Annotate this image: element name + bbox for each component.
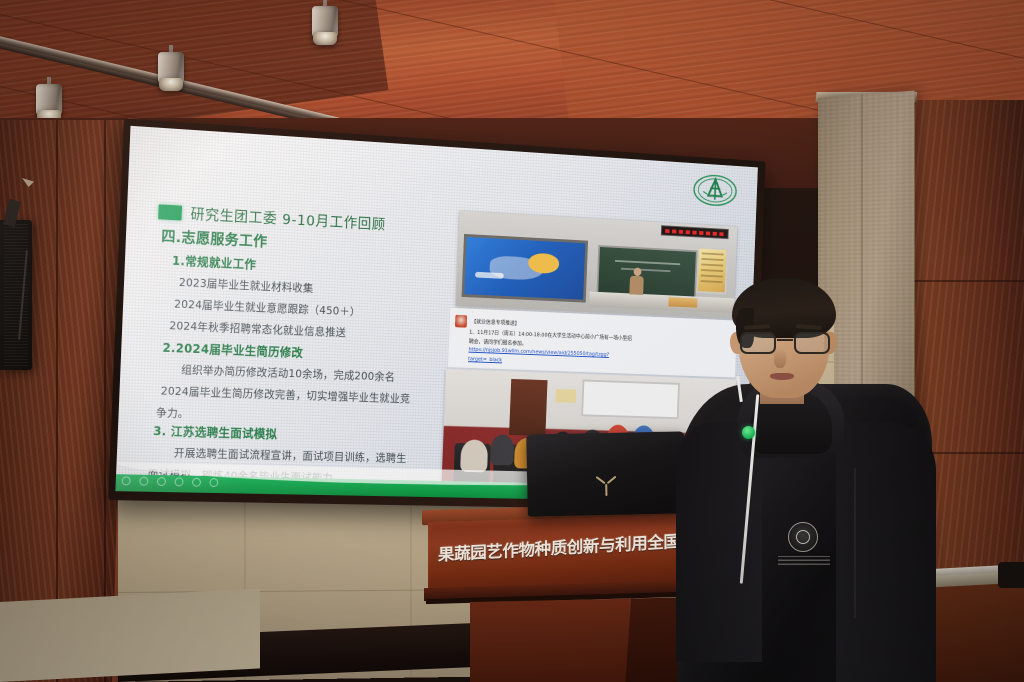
presenter-nose bbox=[774, 348, 786, 368]
presenter-person bbox=[686, 272, 924, 682]
slide-line: 2024届毕业生简历修改完善，切实增强毕业生就业竞 bbox=[161, 383, 411, 407]
notice-link-target[interactable]: target=_black bbox=[468, 356, 502, 363]
track-light-2 bbox=[158, 52, 184, 94]
green-accent-block bbox=[158, 204, 182, 220]
glasses-lens-right bbox=[794, 332, 830, 354]
notice-meta: · bbox=[472, 311, 474, 316]
seminar-whiteboard bbox=[581, 379, 680, 419]
seminar-door bbox=[509, 379, 547, 436]
footer-dot bbox=[157, 477, 166, 486]
slide-line: 2024届毕业生就业意愿跟踪（450＋） bbox=[174, 296, 361, 320]
glasses-lens-left bbox=[740, 332, 776, 354]
cabinet-dark-object bbox=[998, 562, 1024, 588]
chalk-writing bbox=[615, 260, 680, 265]
slide-footer-dots bbox=[122, 476, 219, 487]
slide-line: 争力。 bbox=[156, 404, 189, 421]
footer-dot bbox=[209, 478, 218, 487]
jacket-badge-text bbox=[778, 556, 830, 565]
chalk-writing bbox=[620, 268, 670, 272]
projection-graphic bbox=[475, 272, 504, 279]
presenter-arm-right bbox=[836, 422, 936, 682]
podium-front-panel: 果蔬园艺作物种质创新与利用全国重点实验室 bbox=[428, 514, 714, 590]
projection-screen bbox=[462, 234, 588, 303]
footer-dot bbox=[192, 478, 201, 487]
left-wall-seam bbox=[56, 120, 58, 682]
lamp-lens bbox=[159, 78, 183, 91]
lecturer-body bbox=[629, 276, 643, 295]
slide-line: 组织举办简历修改活动10余场，完成200余名 bbox=[181, 361, 395, 384]
avatar bbox=[455, 315, 467, 328]
slide-block-heading-2: 2.2024届毕业生简历修改 bbox=[162, 339, 303, 361]
lectern-podium: 果蔬园艺作物种质创新与利用全国重点实验室 bbox=[428, 506, 714, 682]
footer-dot bbox=[139, 477, 148, 486]
conference-hall-scene: 研究生团工委 9-10月工作回顾 四.志愿服务工作 1.常规就业工作 2023届… bbox=[0, 0, 1024, 682]
lamp-lens bbox=[313, 32, 337, 45]
slide-block-heading-1: 1.常规就业工作 bbox=[172, 252, 257, 273]
jacket-chest-badge bbox=[788, 522, 818, 552]
university-emblem-icon bbox=[691, 170, 739, 210]
notice-line-2: 聘会，请同学们报名参加。 bbox=[469, 337, 527, 347]
slide-line: 2024年秋季招聘常态化就业信息推送 bbox=[169, 317, 346, 340]
presenter-shoulder-left bbox=[676, 422, 762, 662]
slide-section-heading: 四.志愿服务工作 bbox=[161, 225, 268, 251]
presenter-laptop[interactable] bbox=[526, 431, 686, 516]
laptop-logo-icon bbox=[595, 479, 617, 497]
seminar-person bbox=[460, 439, 488, 472]
floor bbox=[0, 588, 260, 682]
earbud-icon bbox=[742, 426, 755, 439]
slide-line: 2023届毕业生就业材料收集 bbox=[179, 274, 314, 296]
presenter-mouth bbox=[770, 373, 794, 380]
footer-dot bbox=[174, 477, 183, 486]
glasses-bridge bbox=[777, 339, 793, 341]
slide-block-heading-3: 3. 江苏选聘生面试模拟 bbox=[153, 422, 278, 442]
lecturer-figure bbox=[629, 267, 644, 296]
venue-sign-text: 果蔬园艺作物种质创新与利用全国重点实验室 bbox=[438, 532, 706, 563]
slide-line: 开展选聘生面试流程宣讲，面试项目训练，选聘生 bbox=[174, 445, 407, 466]
notice-bracket-line: 【就业信息专项推送】 bbox=[471, 317, 519, 327]
footer-dot bbox=[122, 476, 131, 485]
track-light-3 bbox=[312, 6, 338, 48]
seminar-person bbox=[490, 435, 514, 466]
wall-speaker bbox=[0, 220, 32, 370]
seminar-wall-sign bbox=[555, 389, 576, 403]
jacket-seam bbox=[854, 468, 856, 618]
laptop-lid bbox=[526, 431, 686, 516]
speaker-grille bbox=[4, 224, 28, 366]
